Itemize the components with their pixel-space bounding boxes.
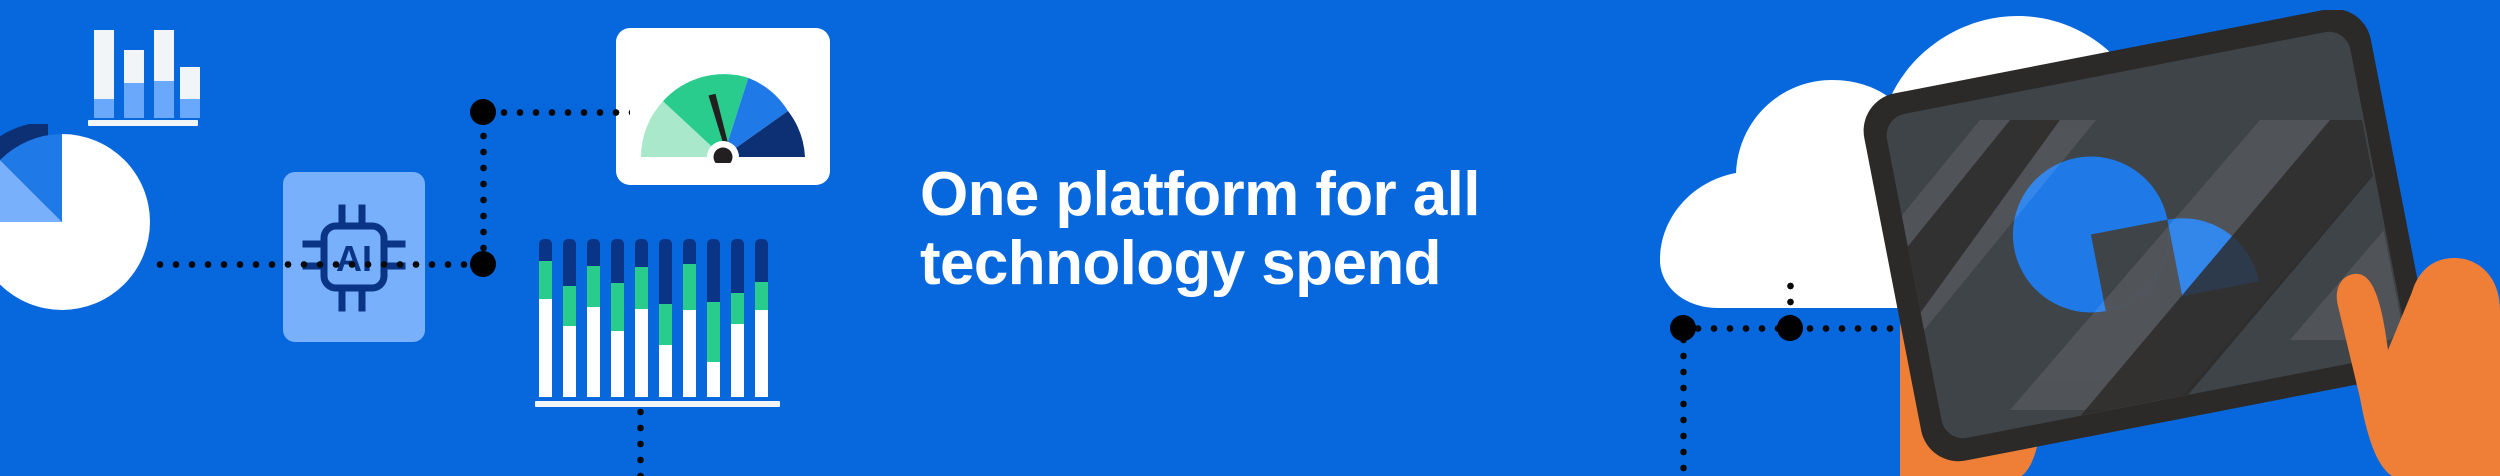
- dotted-connector-icon: [152, 261, 492, 268]
- connector-node-icon: [470, 251, 496, 277]
- hands-icon: [2337, 258, 2500, 476]
- connector-node-icon: [470, 99, 496, 125]
- ai-chip-icon[interactable]: AI: [283, 172, 425, 342]
- dotted-connector-icon: [637, 404, 644, 476]
- dotted-connector-icon: [480, 112, 487, 264]
- pie-chart-icon: [0, 124, 160, 320]
- dotted-connector-icon: [1680, 332, 1687, 476]
- headline-line-1: One platform for all: [920, 160, 1640, 229]
- hero-banner: AI: [0, 0, 2500, 476]
- gauge-icon[interactable]: [616, 28, 830, 185]
- tablet-icon: [1860, 10, 2500, 476]
- ai-chip-label: AI: [336, 238, 372, 279]
- dotted-connector-icon: [480, 109, 630, 116]
- stacked-bar-chart-axis: [535, 401, 780, 407]
- connector-node-icon: [1670, 315, 1696, 341]
- stacked-bar-chart-icon: [535, 232, 780, 407]
- connector-node-icon: [1777, 315, 1803, 341]
- bar-chart-icon: [88, 30, 198, 126]
- headline-line-2: technology spend: [920, 229, 1640, 298]
- page-title: One platform for all technology spend: [920, 160, 1640, 299]
